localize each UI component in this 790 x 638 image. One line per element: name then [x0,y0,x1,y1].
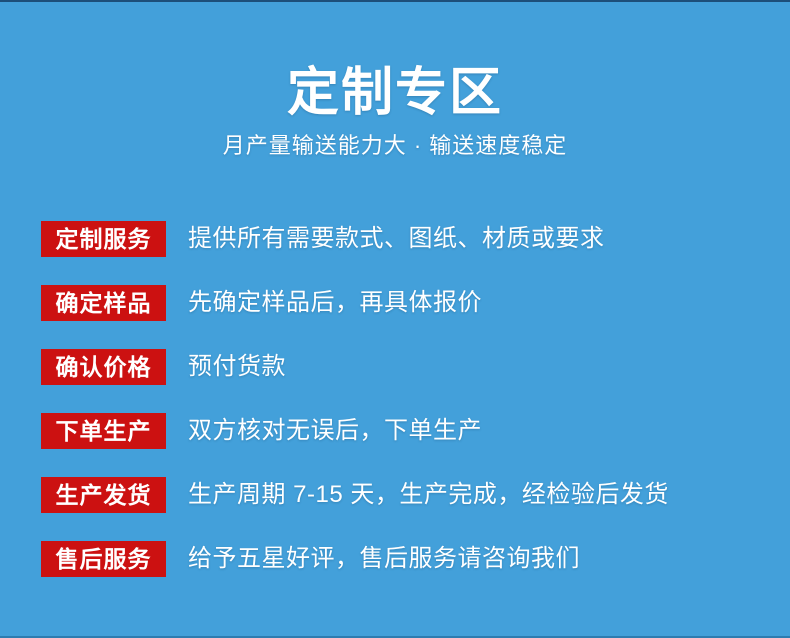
step-badge-confirm-sample: 确定样品 [41,285,166,321]
list-item: 定制服务 提供所有需要款式、图纸、材质或要求 [41,221,761,257]
page-title: 定制专区 [0,62,790,124]
step-description: 预付货款 [188,349,761,385]
step-description: 双方核对无误后，下单生产 [188,413,761,449]
list-item: 生产发货 生产周期 7-15 天，生产完成，经检验后发货 [41,477,761,513]
step-badge-confirm-price: 确认价格 [41,349,166,385]
list-item: 下单生产 双方核对无误后，下单生产 [41,413,761,449]
step-description: 生产周期 7-15 天，生产完成，经检验后发货 [188,477,761,513]
step-description: 提供所有需要款式、图纸、材质或要求 [188,221,761,257]
page-subtitle: 月产量输送能力大 · 输送速度稳定 [0,133,790,159]
step-badge-custom-service: 定制服务 [41,221,166,257]
step-description: 先确定样品后，再具体报价 [188,285,761,321]
poster-header: 定制专区 月产量输送能力大 · 输送速度稳定 [0,62,790,159]
step-description: 给予五星好评，售后服务请咨询我们 [188,541,761,577]
custom-service-poster: 定制专区 月产量输送能力大 · 输送速度稳定 定制服务 提供所有需要款式、图纸、… [0,0,790,638]
step-badge-after-sales: 售后服务 [41,541,166,577]
step-badge-place-order: 下单生产 [41,413,166,449]
list-item: 确定样品 先确定样品后，再具体报价 [41,285,761,321]
list-item: 售后服务 给予五星好评，售后服务请咨询我们 [41,541,761,577]
process-step-list: 定制服务 提供所有需要款式、图纸、材质或要求 确定样品 先确定样品后，再具体报价… [41,221,761,577]
step-badge-production-shipping: 生产发货 [41,477,166,513]
list-item: 确认价格 预付货款 [41,349,761,385]
top-divider-rule [0,0,790,2]
